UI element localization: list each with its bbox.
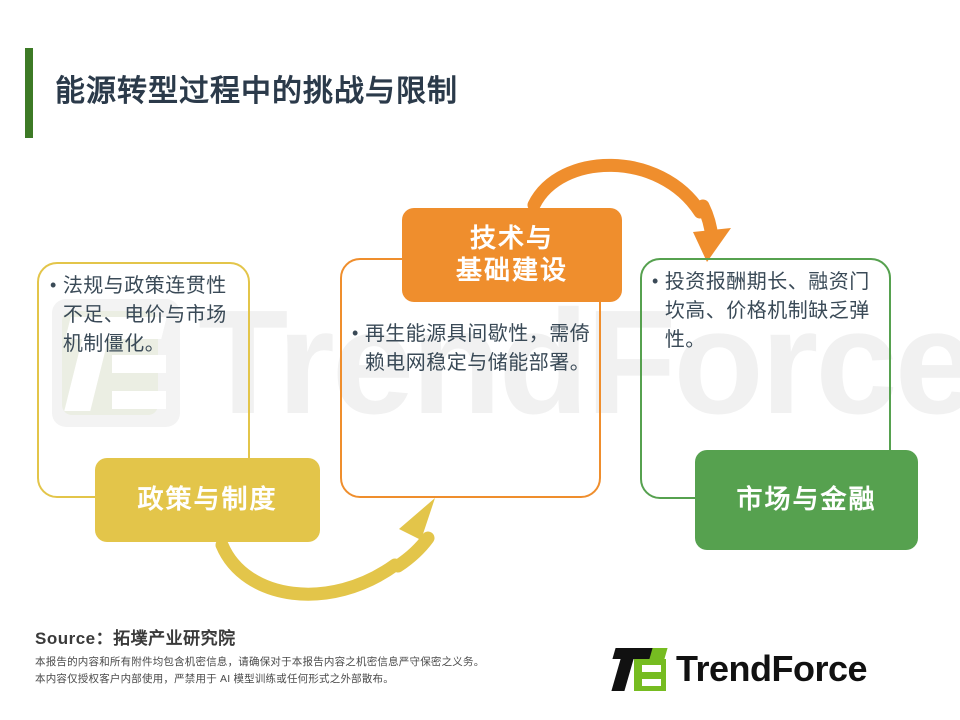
page-title: 能源转型过程中的挑战与限制 xyxy=(55,66,458,110)
label-technology[interactable]: 技术与 基础建设 xyxy=(402,208,622,302)
card-policy-text: 法规与政策连贯性不足、电价与市场机制僵化。 xyxy=(63,272,245,359)
slide-canvas: TrendForce 能源转型过程中的挑战与限制 • 法规与政策连贯性不足、电价… xyxy=(0,0,960,720)
bullet-marker: • xyxy=(652,268,659,355)
card-technology-body: • 再生能源具间歇性，需倚赖电网稳定与储能部署。 xyxy=(352,320,592,378)
disclaimer-line-2: 本内容仅授权客户内部使用，严禁用于 AI 模型训练或任何形式之外部散布。 xyxy=(35,671,484,688)
trendforce-logo-text: TrendForce xyxy=(676,651,867,687)
label-technology-line2: 基础建设 xyxy=(456,255,568,285)
label-market-text: 市场与金融 xyxy=(736,484,876,516)
label-policy-text: 政策与制度 xyxy=(137,484,277,516)
label-market[interactable]: 市场与金融 xyxy=(695,450,918,550)
card-market-text: 投资报酬期长、融资门坎高、价格机制缺乏弹性。 xyxy=(665,268,884,355)
bullet-marker: • xyxy=(50,272,57,359)
trendforce-logo-icon xyxy=(612,646,668,692)
title-accent-bar xyxy=(25,48,33,138)
bullet-marker: • xyxy=(352,320,359,378)
source-line: Source：拓墣产业研究院 xyxy=(35,624,236,649)
label-technology-line1: 技术与 xyxy=(470,223,554,253)
disclaimer-line-1: 本报告的内容和所有附件均包含机密信息，请确保对于本报告内容之机密信息严守保密之义… xyxy=(35,654,484,671)
label-policy[interactable]: 政策与制度 xyxy=(95,458,320,542)
card-policy-body: • 法规与政策连贯性不足、电价与市场机制僵化。 xyxy=(50,272,245,359)
card-technology-text: 再生能源具间歇性，需倚赖电网稳定与储能部署。 xyxy=(365,320,592,378)
card-market-body: • 投资报酬期长、融资门坎高、价格机制缺乏弹性。 xyxy=(652,268,884,355)
disclaimer-block: 本报告的内容和所有附件均包含机密信息，请确保对于本报告内容之机密信息严守保密之义… xyxy=(35,654,484,689)
trendforce-logo: TrendForce xyxy=(612,645,867,693)
